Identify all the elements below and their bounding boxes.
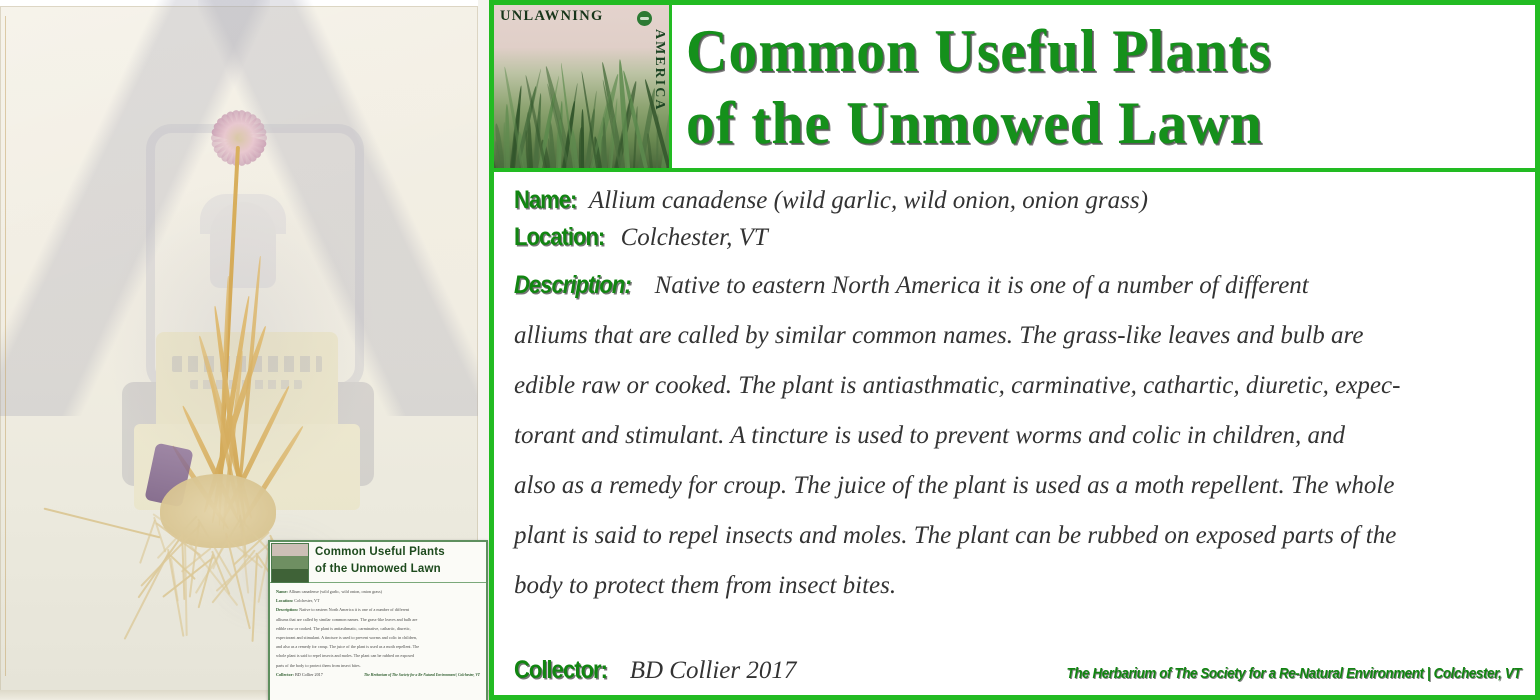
description-first-row: Description: Native to eastern North Ame… [514, 260, 1517, 311]
description-line-7: body to protect them from insect bites. [514, 561, 1517, 611]
grass-blade [646, 133, 653, 168]
grass-blade [579, 127, 584, 168]
inset-row-name: Name: Allium canadense (wild garlic, wil… [276, 587, 480, 596]
leaf-badge-icon [637, 11, 652, 26]
inset-name-value: Allium canadense (wild garlic, wild onio… [289, 589, 382, 594]
inset-description-line-2: edible raw or cooked. The plant is antia… [276, 624, 480, 633]
herbarium-specimen-sheet: Common Useful Plants of the Unmowed Lawn… [0, 0, 1540, 700]
card-title: Common Useful Plants of the Unmowed Lawn [672, 5, 1535, 168]
description-line-1: Native to eastern North America it is on… [655, 261, 1309, 311]
inset-row-location: Location: Colchester, VT [276, 596, 480, 605]
inset-collector-value: BD Collier 2017 [295, 672, 323, 677]
card-title-line-2: of the Unmowed Lawn [686, 87, 1501, 159]
inset-description-label: Description: [276, 607, 298, 612]
long-trailing-root [44, 508, 161, 539]
inset-label-card: Common Useful Plants of the Unmowed Lawn… [268, 540, 488, 700]
description-line-6: plant is said to repel insects and moles… [514, 511, 1517, 561]
root-strand [139, 520, 156, 564]
specimen-photograph: Common Useful Plants of the Unmowed Lawn… [0, 0, 489, 700]
inset-description-line-5: whole plant is said to repel insects and… [276, 651, 480, 660]
collector-value: BD Collier 2017 [630, 657, 797, 685]
card-header: UNLAWNING AMERICA Common Useful Plants o… [494, 5, 1535, 172]
card-footer: Collector: BD Collier 2017 The Herbarium… [514, 656, 1521, 685]
inset-title-line-2: of the Unmowed Lawn [315, 561, 486, 578]
description-label: Description: [514, 260, 631, 310]
inset-location-value: Colchester, VT [294, 598, 319, 603]
inset-collector-label: Collector: [276, 672, 294, 677]
field-name: Name: Allium canadense (wild garlic, wil… [514, 186, 1517, 215]
inset-logo-thumbnail [271, 543, 309, 583]
inset-description-line-6: parts of the body to protect them from i… [276, 661, 480, 670]
inset-label-body: Name: Allium canadense (wild garlic, wil… [270, 583, 486, 670]
inset-row-description: Description: Native to eastern North Ame… [276, 605, 480, 614]
inset-label-title: Common Useful Plants of the Unmowed Lawn [310, 542, 486, 582]
field-description: Description: Native to eastern North Ame… [514, 260, 1517, 611]
inset-credit: The Herbarium of The Society for a Re-Na… [364, 673, 480, 677]
field-location: Location: Colchester, VT [514, 223, 1517, 252]
inset-label-header: Common Useful Plants of the Unmowed Lawn [270, 542, 486, 583]
description-line-5: also as a remedy for croup. The juice of… [514, 461, 1517, 511]
root-strand [184, 540, 188, 636]
description-line-2: alliums that are called by similar commo… [514, 311, 1517, 361]
name-value: Allium canadense (wild garlic, wild onio… [589, 187, 1148, 214]
inset-collector: Collector: BD Collier 2017 [276, 672, 323, 677]
collector-label: Collector: [514, 656, 607, 685]
inset-label-footer: Collector: BD Collier 2017 The Herbarium… [270, 670, 486, 677]
inset-description-line-4: and also as a remedy for croup. The juic… [276, 642, 480, 651]
herbarium-credit: The Herbarium of The Society for a Re-Na… [1066, 666, 1521, 682]
unlawning-america-logo: UNLAWNING AMERICA [494, 5, 672, 168]
paper-fold-line [5, 16, 6, 676]
logo-wordmark-text: UNLAWNING [500, 8, 604, 24]
name-label: Name: [514, 186, 576, 215]
logo-grass-illustration [494, 41, 669, 168]
description-line-3: edible raw or cooked. The plant is antia… [514, 361, 1517, 411]
inset-name-label: Name: [276, 589, 288, 594]
logo-wordmark-vertical: AMERICA [651, 29, 667, 111]
logo-wordmark: UNLAWNING [500, 8, 604, 25]
card-body: Name: Allium canadense (wild garlic, wil… [494, 172, 1535, 611]
card-title-line-1: Common Useful Plants [686, 15, 1501, 87]
description-line-4: torant and stimulant. A tincture is used… [514, 411, 1517, 461]
inset-title-line-1: Common Useful Plants [315, 544, 486, 561]
inset-location-label: Location: [276, 598, 293, 603]
inset-description-lines: alliums that are called by similar commo… [276, 615, 480, 670]
inset-description-line-3: expectorant and stimulant. A tincture is… [276, 633, 480, 642]
inset-description-first-line: Native to eastern North America it is on… [299, 607, 409, 612]
location-label: Location: [514, 223, 604, 252]
label-card: UNLAWNING AMERICA Common Useful Plants o… [489, 0, 1540, 700]
inset-description-line-1: alliums that are called by similar commo… [276, 615, 480, 624]
location-value: Colchester, VT [621, 224, 768, 251]
